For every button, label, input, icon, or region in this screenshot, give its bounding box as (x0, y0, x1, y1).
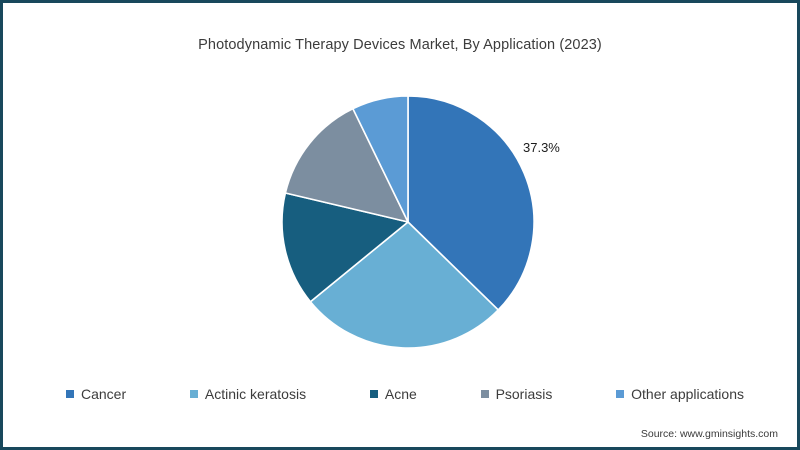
legend-swatch-cancer (66, 390, 74, 398)
source-note: Source: www.gminsights.com (641, 428, 778, 440)
legend-swatch-other-applications (616, 390, 624, 398)
legend-swatch-actinic-keratosis (190, 390, 198, 398)
pie-chart (281, 95, 535, 349)
legend-item-cancer[interactable]: Cancer (66, 386, 126, 402)
chart-canvas: Photodynamic Therapy Devices Market, By … (3, 3, 797, 447)
legend-label-psoriasis: Psoriasis (496, 386, 553, 402)
chart-figure: Photodynamic Therapy Devices Market, By … (0, 0, 800, 450)
legend-item-actinic-keratosis[interactable]: Actinic keratosis (190, 386, 306, 402)
legend-item-psoriasis[interactable]: Psoriasis (481, 386, 553, 402)
legend-label-cancer: Cancer (81, 386, 126, 402)
legend-label-other-applications: Other applications (631, 386, 744, 402)
legend-swatch-acne (370, 390, 378, 398)
legend-item-acne[interactable]: Acne (370, 386, 417, 402)
chart-legend: CancerActinic keratosisAcnePsoriasisOthe… (66, 383, 744, 405)
pie-svg (281, 95, 535, 349)
legend-label-acne: Acne (385, 386, 417, 402)
legend-label-actinic-keratosis: Actinic keratosis (205, 386, 306, 402)
chart-title: Photodynamic Therapy Devices Market, By … (4, 37, 796, 53)
legend-swatch-psoriasis (481, 390, 489, 398)
slice-percentage-label-cancer: 37.3% (523, 140, 560, 155)
pie-slice-group (282, 96, 534, 348)
legend-item-other-applications[interactable]: Other applications (616, 386, 744, 402)
